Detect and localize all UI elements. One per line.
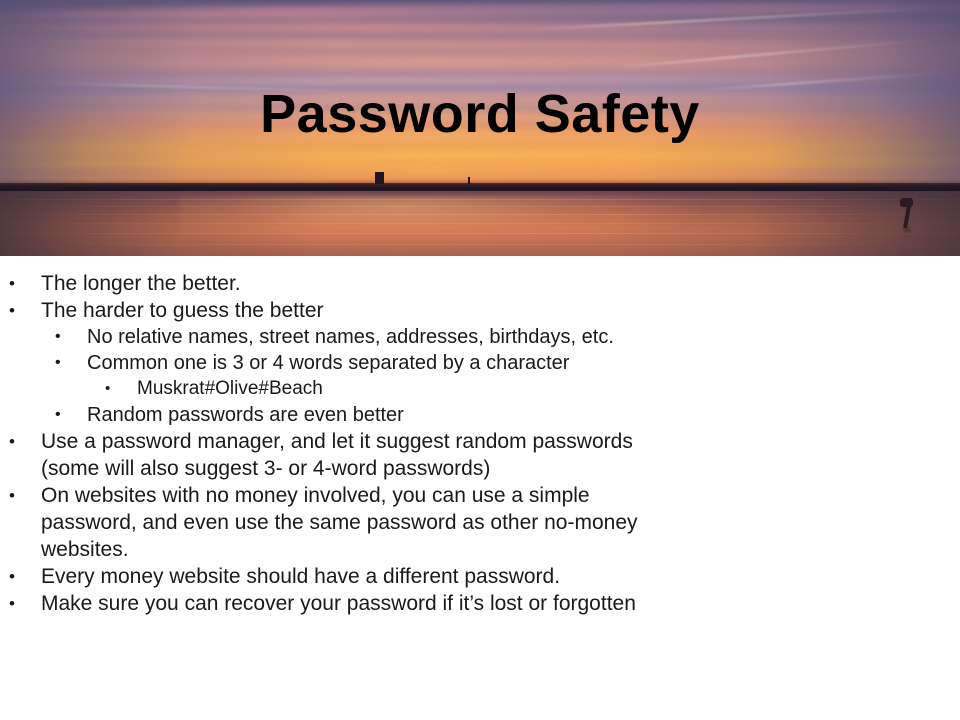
bullet-marker: • [0, 376, 137, 402]
bullet-item: • The longer the better. [0, 270, 960, 297]
mast-silhouette [468, 177, 470, 184]
bullet-item: • Common one is 3 or 4 words separated b… [0, 350, 960, 376]
water-edge-shading [0, 191, 960, 256]
bullet-text: Use a password manager, and let it sugge… [41, 428, 661, 482]
bullet-text: No relative names, street names, address… [87, 324, 614, 350]
bullet-text: The longer the better. [41, 270, 241, 297]
bullet-item: • Use a password manager, and let it sug… [0, 428, 960, 482]
bullet-item: • Random passwords are even better [0, 402, 960, 428]
bullet-item: • On websites with no money involved, yo… [0, 482, 960, 563]
bullet-item: • Every money website should have a diff… [0, 563, 960, 590]
bullet-text: Random passwords are even better [87, 402, 404, 428]
bullet-marker: • [0, 324, 87, 350]
bullet-text: Muskrat#Olive#Beach [137, 376, 323, 402]
bullet-item: • No relative names, street names, addre… [0, 324, 960, 350]
bullet-marker: • [0, 270, 41, 297]
bullet-text: On websites with no money involved, you … [41, 482, 661, 563]
bullet-item: • Make sure you can recover your passwor… [0, 590, 960, 617]
bullet-marker: • [0, 402, 87, 428]
bullet-marker: • [0, 563, 41, 590]
bullet-text: Common one is 3 or 4 words separated by … [87, 350, 569, 376]
slide-body: • The longer the better. • The harder to… [0, 256, 960, 617]
bullet-text: Make sure you can recover your password … [41, 590, 636, 617]
bullet-item: • The harder to guess the better [0, 297, 960, 324]
bullet-marker: • [0, 297, 41, 324]
bullet-marker: • [0, 482, 41, 509]
slide-title: Password Safety [0, 84, 960, 144]
bullet-marker: • [0, 350, 87, 376]
bullet-marker: • [0, 590, 41, 617]
tower-silhouette [375, 172, 384, 184]
bullet-item: • Muskrat#Olive#Beach [0, 376, 960, 402]
bullet-marker: • [0, 428, 41, 455]
hero-image: Password Safety [0, 0, 960, 256]
bullet-text: Every money website should have a differ… [41, 563, 560, 590]
bullet-text: The harder to guess the better [41, 297, 324, 324]
slide: Password Safety • The longer the better.… [0, 0, 960, 720]
